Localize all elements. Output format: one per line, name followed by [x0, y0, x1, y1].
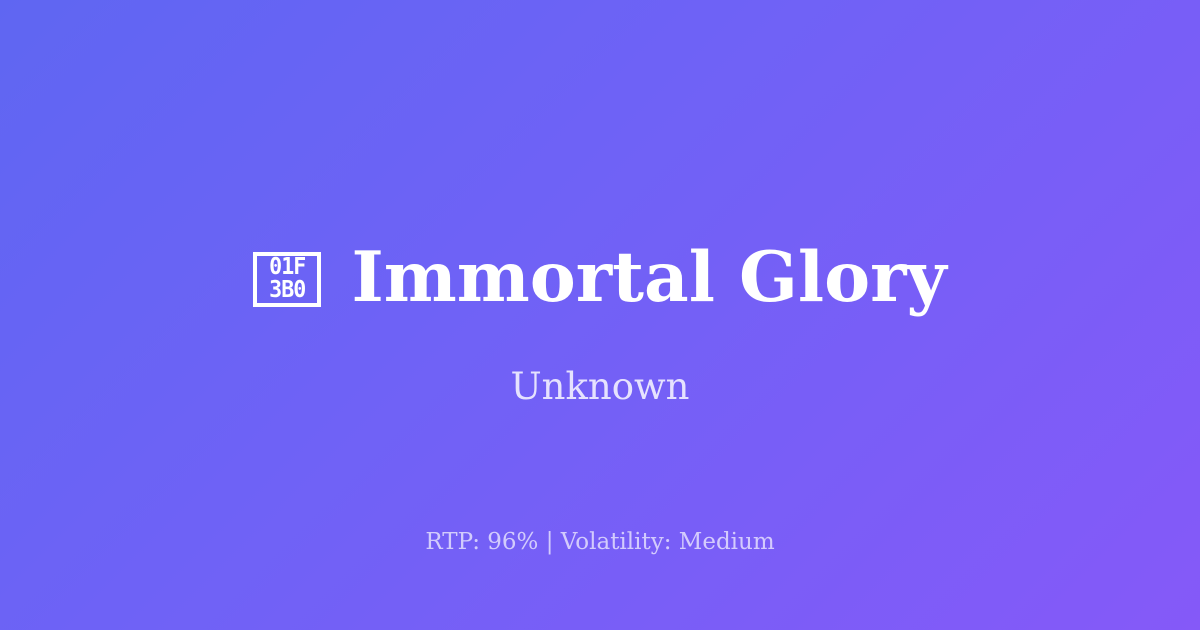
game-stats-line: RTP: 96% | Volatility: Medium — [0, 527, 1200, 557]
og-share-card: 01F 3B0 Immortal Glory Unknown RTP: 96% … — [0, 0, 1200, 630]
slot-machine-icon-codepoint-low: 3B0 — [269, 279, 305, 302]
slot-machine-icon-codepoint-high: 01F — [269, 256, 305, 279]
hero-heading-row: 01F 3B0 Immortal Glory — [0, 232, 1200, 322]
game-title: Immortal Glory — [351, 243, 946, 312]
slot-machine-icon: 01F 3B0 — [253, 252, 321, 307]
game-provider: Unknown — [0, 365, 1200, 409]
